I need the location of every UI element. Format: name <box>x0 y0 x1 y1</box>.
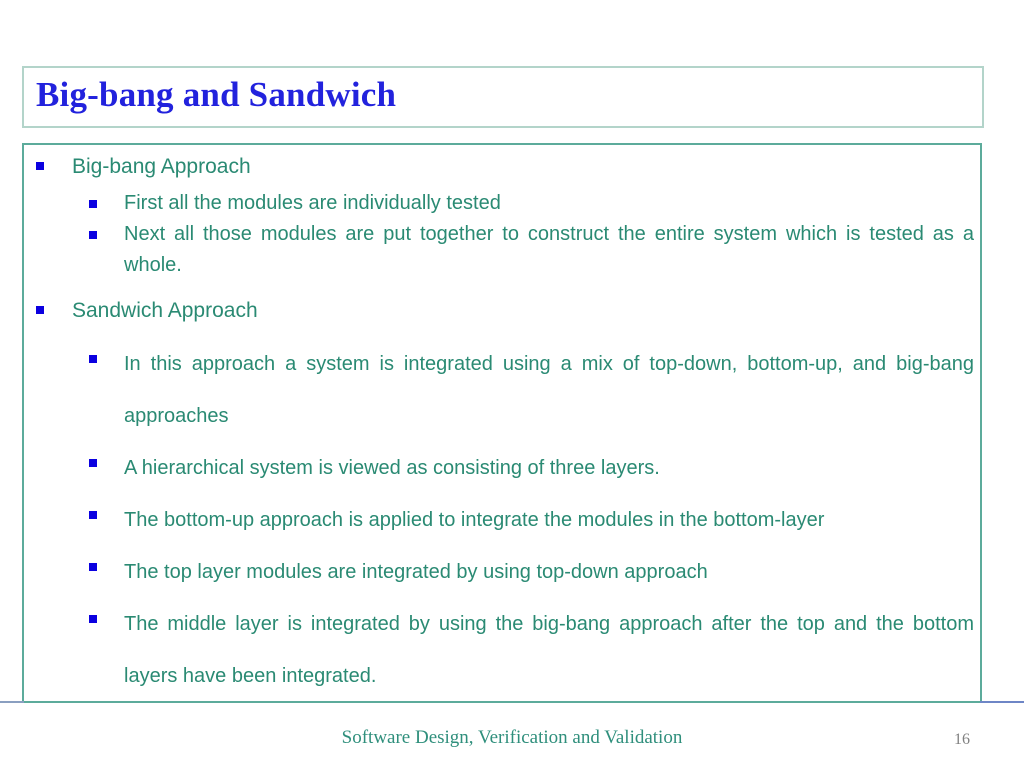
list-item-text: Next all those modules are put together … <box>124 219 974 281</box>
spacer <box>24 281 980 295</box>
square-bullet-icon <box>89 459 97 467</box>
footer-text: Software Design, Verification and Valida… <box>0 727 1024 749</box>
section-heading: Sandwich Approach <box>72 295 972 326</box>
square-bullet-icon <box>89 615 97 623</box>
page-title: Big-bang and Sandwich <box>36 75 396 115</box>
list-item-text: The middle layer is integrated by using … <box>124 598 974 702</box>
list-item: Big-bang Approach <box>24 151 980 182</box>
square-bullet-icon <box>89 231 97 239</box>
list-item: Sandwich Approach <box>24 295 980 326</box>
list-item: The middle layer is integrated by using … <box>24 598 980 702</box>
footer-rule-left <box>0 701 24 703</box>
square-bullet-icon <box>36 306 44 314</box>
square-bullet-icon <box>89 200 97 208</box>
list-item-text: First all the modules are individually t… <box>124 188 974 219</box>
list-item: The top layer modules are integrated by … <box>24 546 980 598</box>
square-bullet-icon <box>89 511 97 519</box>
slide-content-box: Big-bang Approach First all the modules … <box>22 143 982 703</box>
square-bullet-icon <box>89 355 97 363</box>
spacer <box>24 326 980 338</box>
section-heading: Big-bang Approach <box>72 151 972 182</box>
square-bullet-icon <box>36 162 44 170</box>
square-bullet-icon <box>89 563 97 571</box>
list-item-text: The bottom-up approach is applied to int… <box>124 494 974 546</box>
list-item: A hierarchical system is viewed as consi… <box>24 442 980 494</box>
list-item-text: In this approach a system is integrated … <box>124 338 974 442</box>
list-item-text: The top layer modules are integrated by … <box>124 546 974 598</box>
list-item: Next all those modules are put together … <box>24 219 980 281</box>
list-item: First all the modules are individually t… <box>24 188 980 219</box>
list-item: In this approach a system is integrated … <box>24 338 980 442</box>
slide-title-box: Big-bang and Sandwich <box>22 66 984 128</box>
list-item: The bottom-up approach is applied to int… <box>24 494 980 546</box>
page-number: 16 <box>930 731 994 749</box>
footer-rule-right <box>980 701 1024 703</box>
list-item-text: A hierarchical system is viewed as consi… <box>124 442 974 494</box>
